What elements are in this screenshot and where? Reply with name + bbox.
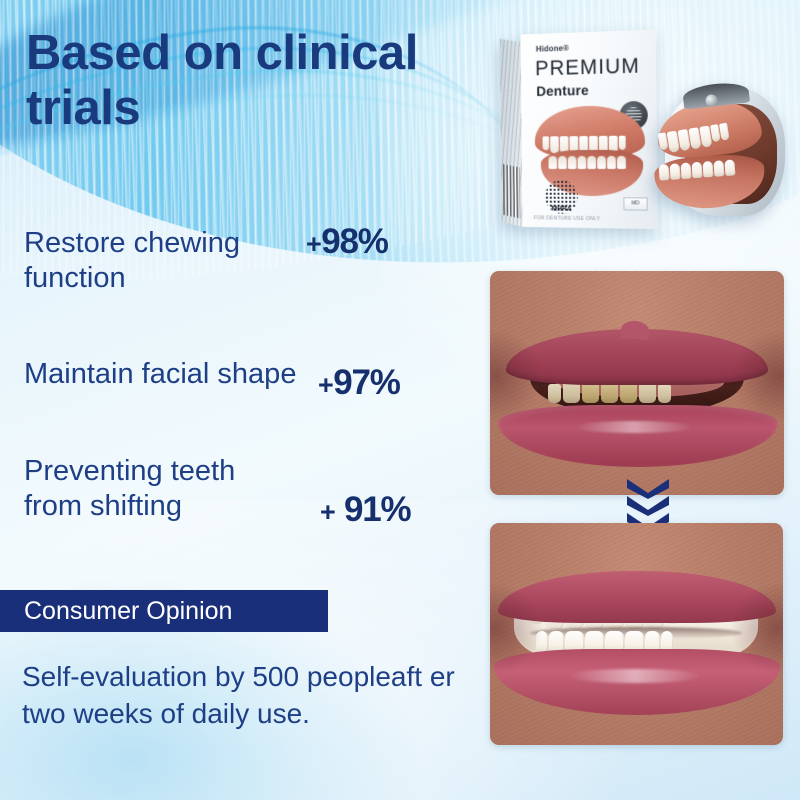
benefit-label: Preventing teeth from shifting [0, 454, 300, 525]
package-title-premium: PREMIUM [535, 54, 640, 81]
package-front-face: Hidone® PREMIUM Denture [521, 29, 659, 229]
before-right-corner-shadow [732, 331, 784, 421]
lower-tooth-row [548, 156, 626, 169]
package-brand-name: Hidone® [536, 44, 569, 54]
plus-sign: + [306, 229, 321, 259]
package-bottom-caption: FOR DENTURE USE ONLY [534, 215, 600, 222]
plus-sign: + [320, 497, 335, 527]
percent-value: 91% [344, 490, 410, 529]
benefit-list: Restore chewing function +98% Maintain f… [0, 218, 480, 532]
benefit-percent: +98% [306, 222, 388, 262]
benefit-percent: +97% [318, 363, 400, 403]
percent-value: 98% [321, 222, 387, 261]
before-left-corner-shadow [490, 331, 542, 421]
consumer-opinion-body: Self-evaluation by 500 peopleaft er two … [22, 658, 492, 732]
before-photo [490, 271, 784, 495]
plus-sign: + [318, 370, 333, 400]
package-device-badge: MD [623, 197, 647, 210]
benefit-label: Restore chewing function [0, 226, 300, 297]
benefit-row: Restore chewing function +98% [0, 218, 480, 304]
product-package: Hidone® PREMIUM Denture [521, 29, 659, 229]
after-left-corner-shadow [490, 583, 542, 673]
mhra-label: MHRA [545, 206, 578, 213]
model-hinge-pin [705, 94, 718, 107]
benefit-percent: + 91% [320, 490, 410, 530]
after-lip-highlight [568, 669, 702, 683]
after-photo [490, 523, 783, 745]
percent-value: 97% [333, 363, 399, 402]
denture-ad-poster: Based on clinical trials Restore chewing… [0, 0, 800, 800]
benefit-row: Preventing teeth from shifting + 91% [0, 446, 480, 532]
consumer-opinion-label: Consumer Opinion [0, 597, 232, 626]
before-lip-highlight [574, 421, 694, 433]
benefit-label: Maintain facial shape [0, 357, 300, 392]
barcode [503, 164, 520, 218]
after-right-corner-shadow [731, 583, 783, 673]
consumer-opinion-banner: Consumer Opinion [0, 590, 328, 632]
mhra-certification-logo: MHRA [545, 180, 578, 214]
dental-model [655, 84, 791, 232]
benefit-row: Maintain facial shape +97% [0, 332, 480, 418]
package-title-denture: Denture [536, 82, 589, 99]
page-title: Based on clinical trials [26, 26, 496, 137]
